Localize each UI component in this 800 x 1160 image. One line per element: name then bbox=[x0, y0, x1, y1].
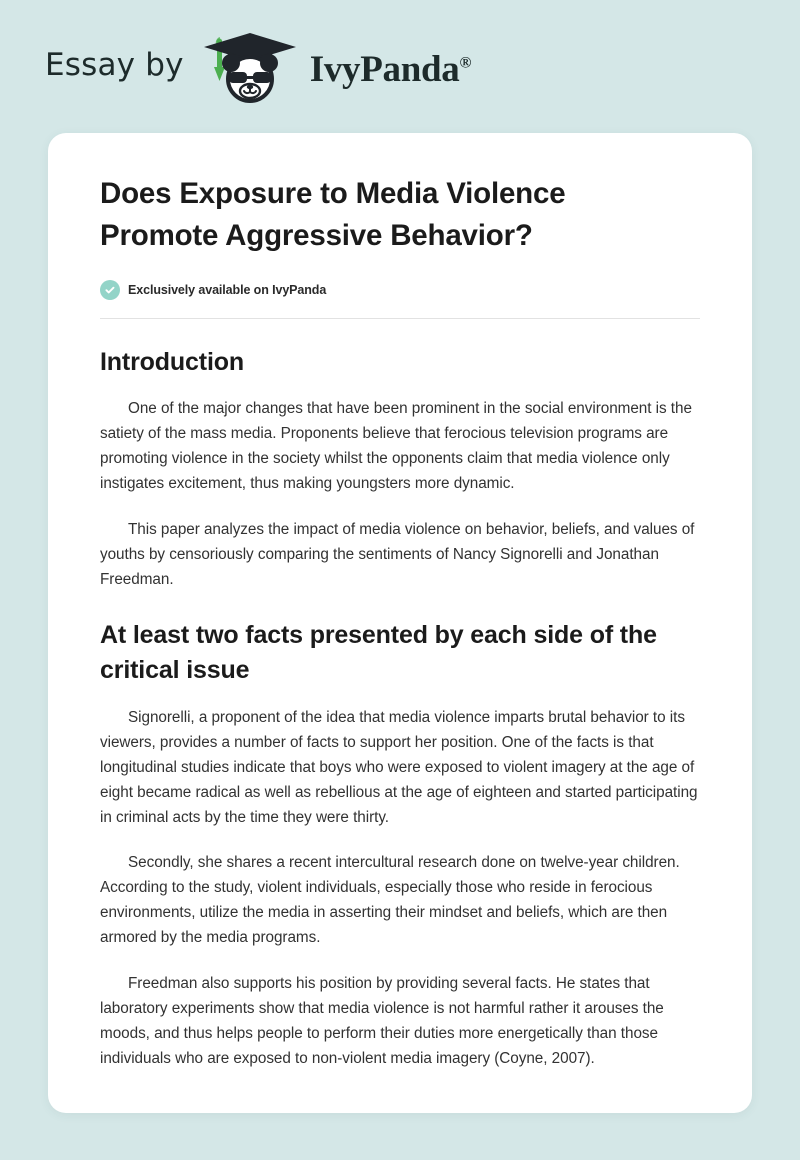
paragraph: Secondly, she shares a recent intercultu… bbox=[100, 850, 700, 950]
ivypanda-brand-lockup[interactable]: Essay by bbox=[45, 31, 471, 103]
status-badge: Exclusively available on IvyPanda bbox=[100, 280, 700, 300]
essay-card: Does Exposure to Media Violence Promote … bbox=[48, 133, 752, 1113]
section-heading-introduction: Introduction bbox=[100, 345, 700, 381]
paragraph: Signorelli, a proponent of the idea that… bbox=[100, 705, 700, 830]
exclusive-availability-label: Exclusively available on IvyPanda bbox=[128, 283, 326, 297]
section-heading-two-facts: At least two facts presented by each sid… bbox=[100, 618, 700, 689]
paragraph: This paper analyzes the impact of media … bbox=[100, 517, 700, 592]
registered-trademark-icon: ® bbox=[459, 55, 471, 72]
ivypanda-wordmark: IvyPanda® bbox=[310, 51, 472, 88]
page-title: Does Exposure to Media Violence Promote … bbox=[100, 173, 670, 257]
paragraph: One of the major changes that have been … bbox=[100, 396, 700, 496]
check-circle-icon bbox=[100, 280, 120, 300]
title-divider bbox=[100, 318, 700, 319]
brand-header: Essay by bbox=[0, 0, 800, 133]
brand-name-text: IvyPanda bbox=[310, 49, 460, 90]
essay-by-label: Essay by bbox=[45, 50, 184, 83]
ivypanda-panda-graduate-logo-icon bbox=[198, 31, 304, 103]
paragraph: Freedman also supports his position by p… bbox=[100, 971, 700, 1071]
ivypanda-logo[interactable]: IvyPanda® bbox=[198, 31, 472, 103]
